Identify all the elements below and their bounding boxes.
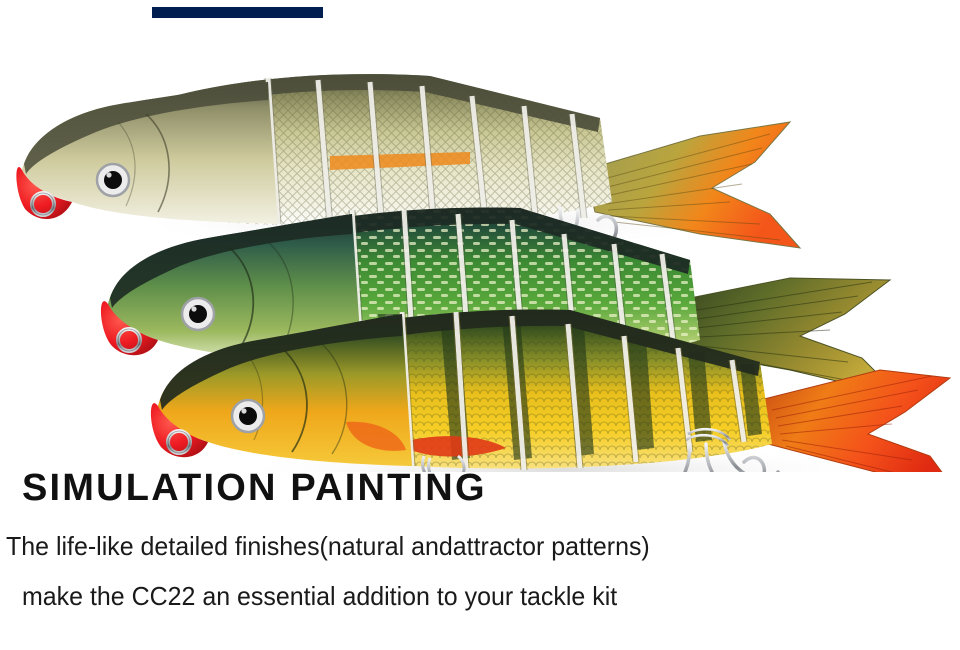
subheadline-line-2: make the CC22 an essential addition to y…: [22, 581, 617, 612]
top-accent-bar: [152, 7, 323, 18]
product-photo: [0, 52, 960, 472]
subheadline-line-1: The life-like detailed finishes(natural …: [6, 531, 650, 562]
lure-top-head: [16, 82, 278, 224]
page-headline: SIMULATION PAINTING: [22, 467, 487, 510]
product-banner: SIMULATION PAINTING The life-like detail…: [0, 0, 960, 650]
lures-illustration: [0, 52, 960, 472]
